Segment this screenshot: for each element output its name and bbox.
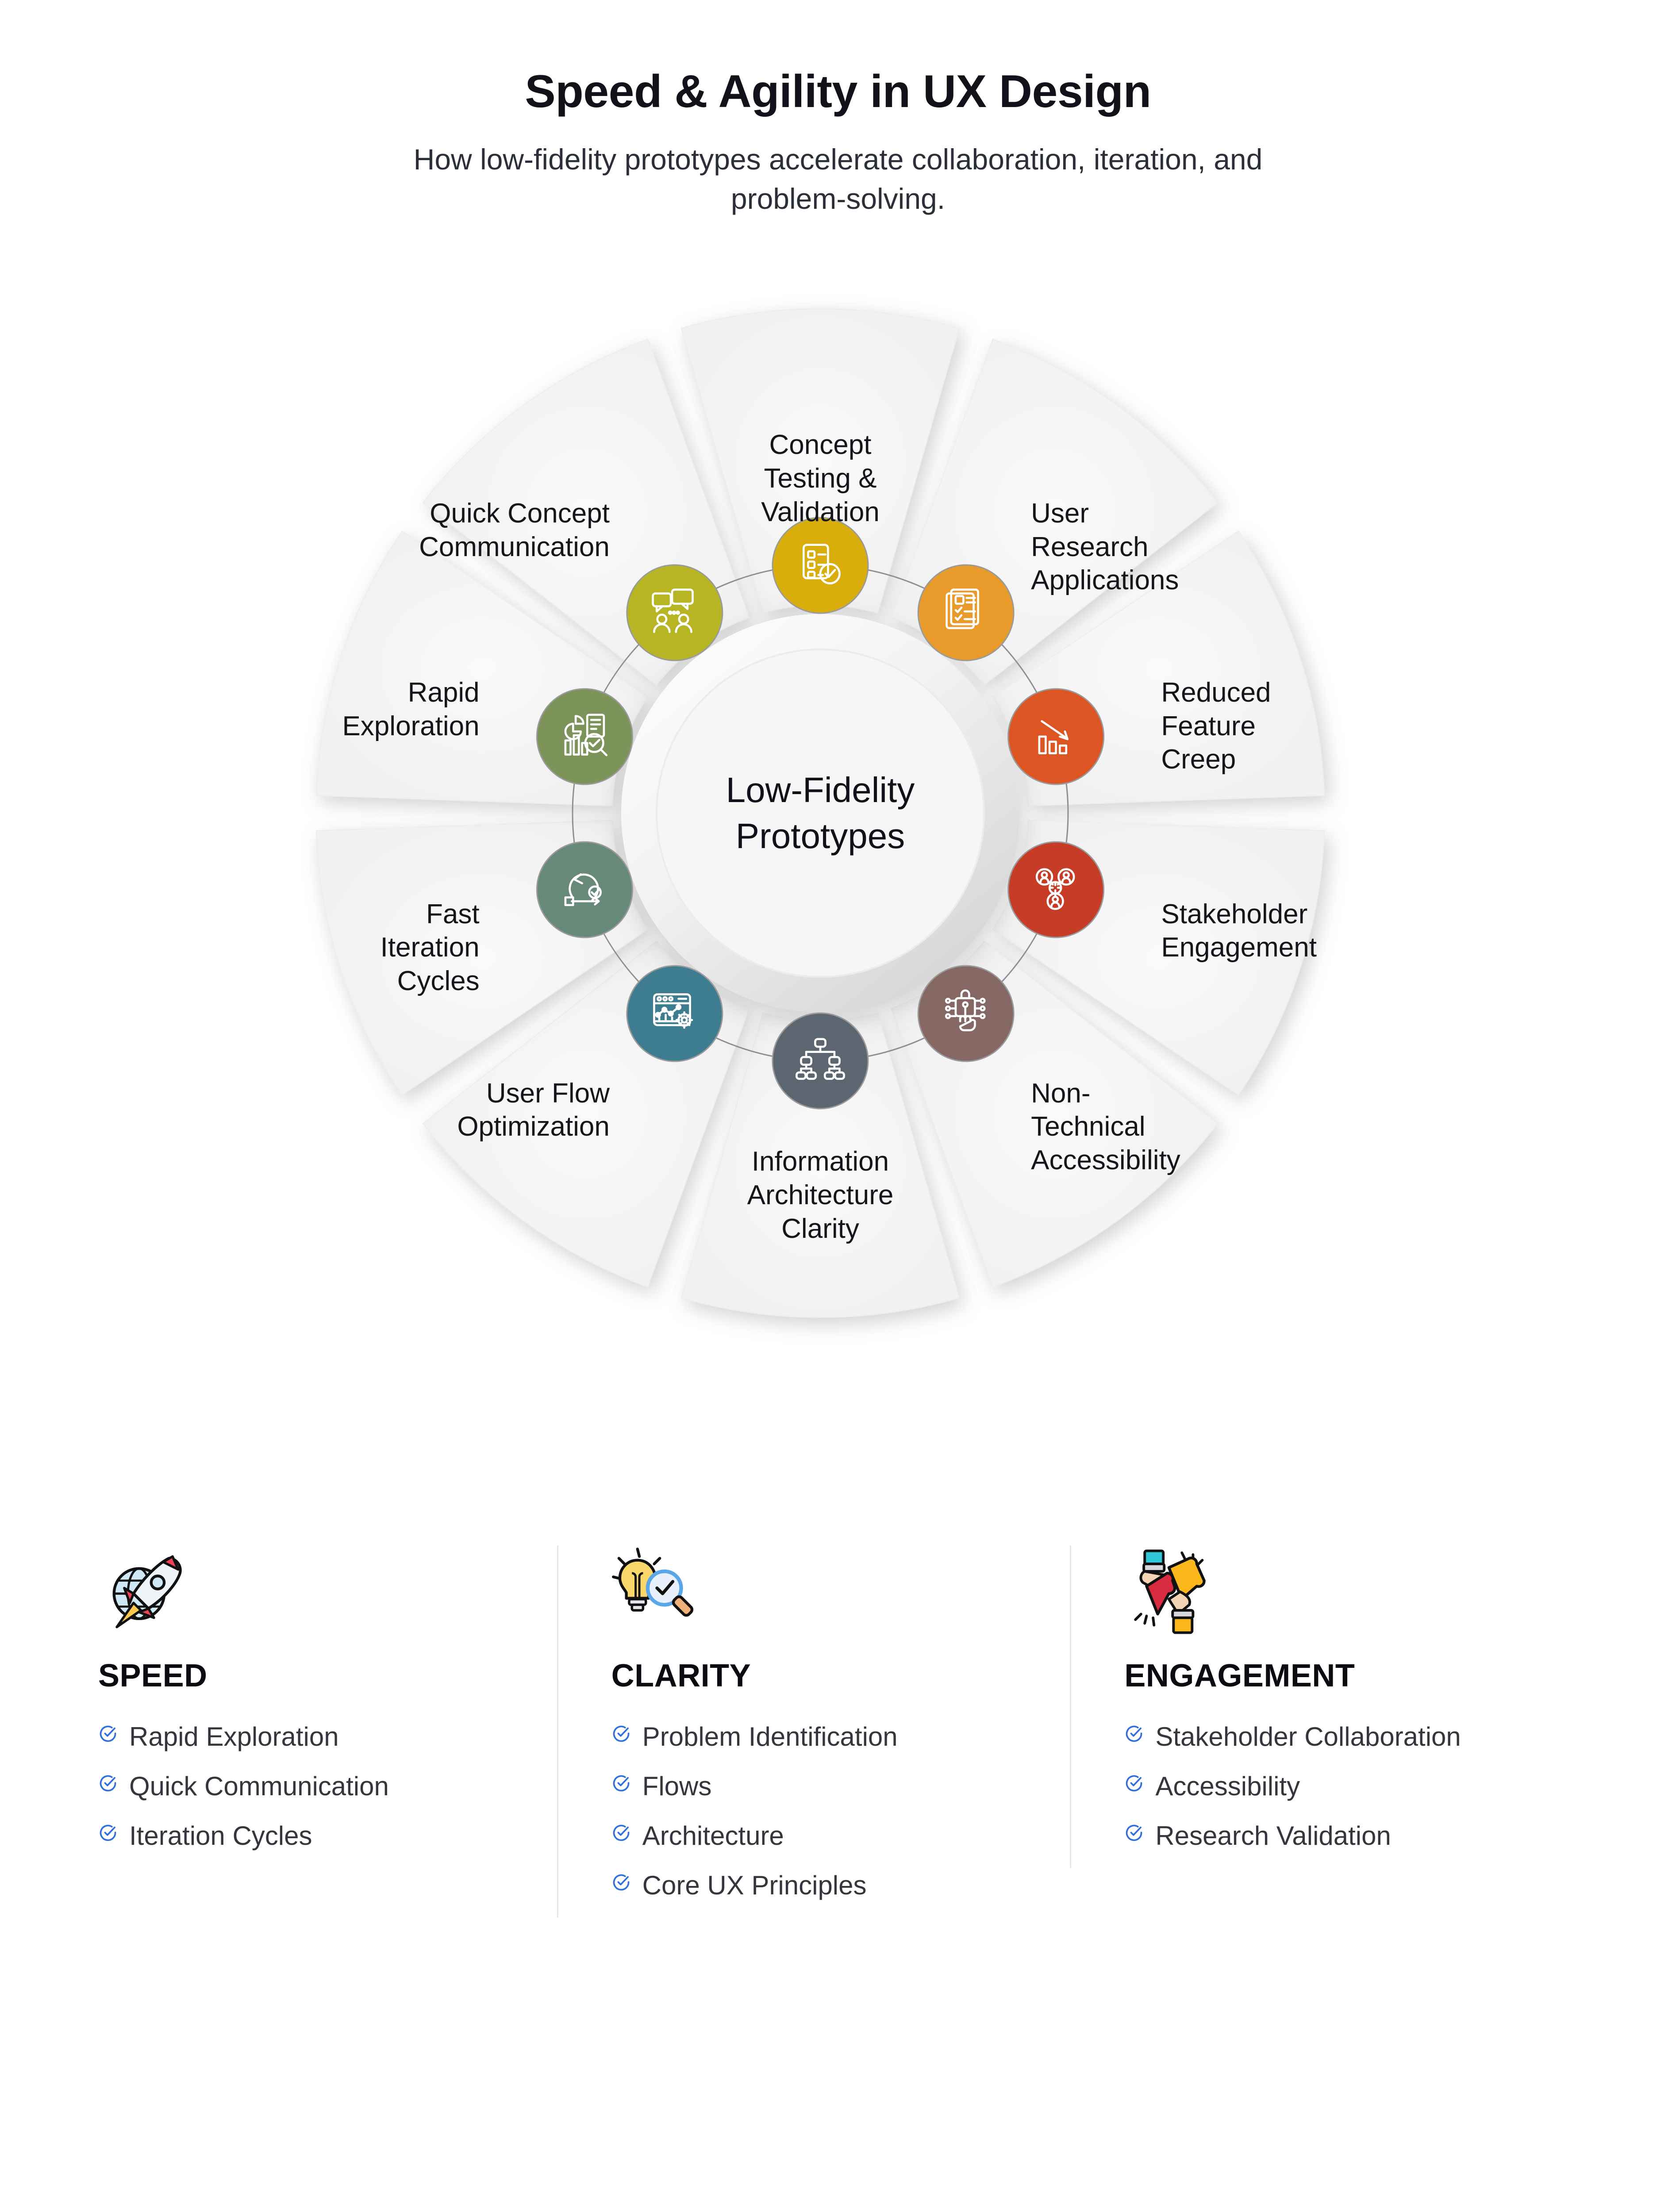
list-item-label: Rapid Exploration [129,1720,339,1754]
sitemap-hierarchy-icon[interactable] [773,1013,868,1109]
research-documents-icon[interactable] [918,565,1014,661]
lightbulb-magnifier-icon [611,1545,704,1638]
check-circle-icon [611,1774,631,1793]
list-item: Core UX Principles [611,1868,1017,1903]
list-item-label: Problem Identification [642,1720,898,1754]
page-subtitle: How low-fidelity prototypes accelerate c… [382,140,1294,218]
list-item-label: Architecture [642,1819,784,1853]
list-item: Iteration Cycles [98,1819,504,1853]
wheel-segment-label: Stakeholder Engagement [1161,898,1317,964]
wheel-segment-label: User Research Applications [1031,497,1179,597]
puzzle-handshake-icon [1124,1545,1217,1638]
data-analysis-search-icon[interactable] [537,689,632,784]
card-title-speed: SPEED [98,1658,504,1694]
wheel-segment-label: Concept Testing & Validation [761,428,880,529]
iteration-cycle-icon[interactable] [537,842,632,937]
list-item: Quick Communication [98,1769,504,1804]
list-item-label: Research Validation [1155,1819,1391,1853]
list-item-label: Iteration Cycles [129,1819,312,1853]
card-clarity: CLARITY Problem Identification Flows [557,1545,1070,1918]
card-list-speed: Rapid Exploration Quick Communication It… [98,1720,504,1853]
card-list-engagement: Stakeholder Collaboration Accessibility … [1124,1720,1530,1853]
list-item-label: Flows [642,1769,712,1804]
wheel-diagram: Concept Testing & ValidationUser Researc… [0,218,1676,1545]
dashboard-gear-icon[interactable] [627,966,723,1061]
card-list-clarity: Problem Identification Flows Architectur… [611,1720,1017,1903]
wheel-svg [0,218,1676,1545]
wheel-segment-label: Reduced Feature Creep [1161,676,1271,776]
check-circle-icon [1124,1823,1144,1843]
card-speed: SPEED Rapid Exploration Quick Communicat… [93,1545,557,1868]
list-item-label: Core UX Principles [642,1868,867,1903]
header: Speed & Agility in UX Design How low-fid… [0,0,1676,218]
list-item-label: Stakeholder Collaboration [1155,1720,1461,1754]
list-item: Rapid Exploration [98,1720,504,1754]
check-circle-icon [611,1873,631,1892]
page-title: Speed & Agility in UX Design [0,66,1676,117]
list-item: Stakeholder Collaboration [1124,1720,1530,1754]
wheel-center-label: Low-Fidelity Prototypes [621,767,1019,859]
list-item: Problem Identification [611,1720,1017,1754]
list-item-label: Accessibility [1155,1769,1300,1804]
check-circle-icon [1124,1774,1144,1793]
check-circle-icon [611,1724,631,1743]
card-title-clarity: CLARITY [611,1658,1017,1694]
check-circle-icon [98,1823,118,1843]
summary-cards: SPEED Rapid Exploration Quick Communicat… [0,1545,1676,1918]
declining-bar-chart-icon[interactable] [1008,689,1104,784]
rocket-globe-icon [98,1545,191,1638]
card-engagement: ENGAGEMENT Stakeholder Collaboration Acc… [1070,1545,1583,1868]
list-item: Accessibility [1124,1769,1530,1804]
list-item-label: Quick Communication [129,1769,389,1804]
list-item: Research Validation [1124,1819,1530,1853]
list-item: Architecture [611,1819,1017,1853]
list-item: Flows [611,1769,1017,1804]
check-circle-icon [1124,1724,1144,1743]
wheel-segment-label: Fast Iteration Cycles [381,898,480,998]
wheel-segment-label: Rapid Exploration [342,676,479,743]
wheel-segment-label: User Flow Optimization [457,1077,610,1144]
check-circle-icon [98,1724,118,1743]
check-circle-icon [611,1823,631,1843]
wheel-segment-label: Information Architecture Clarity [747,1145,894,1245]
wheel-segment-label: Quick Concept Communication [419,497,610,564]
card-title-engagement: ENGAGEMENT [1124,1658,1530,1694]
wheel-segment-label: Non- Technical Accessibility [1031,1077,1180,1177]
check-circle-icon [98,1774,118,1793]
